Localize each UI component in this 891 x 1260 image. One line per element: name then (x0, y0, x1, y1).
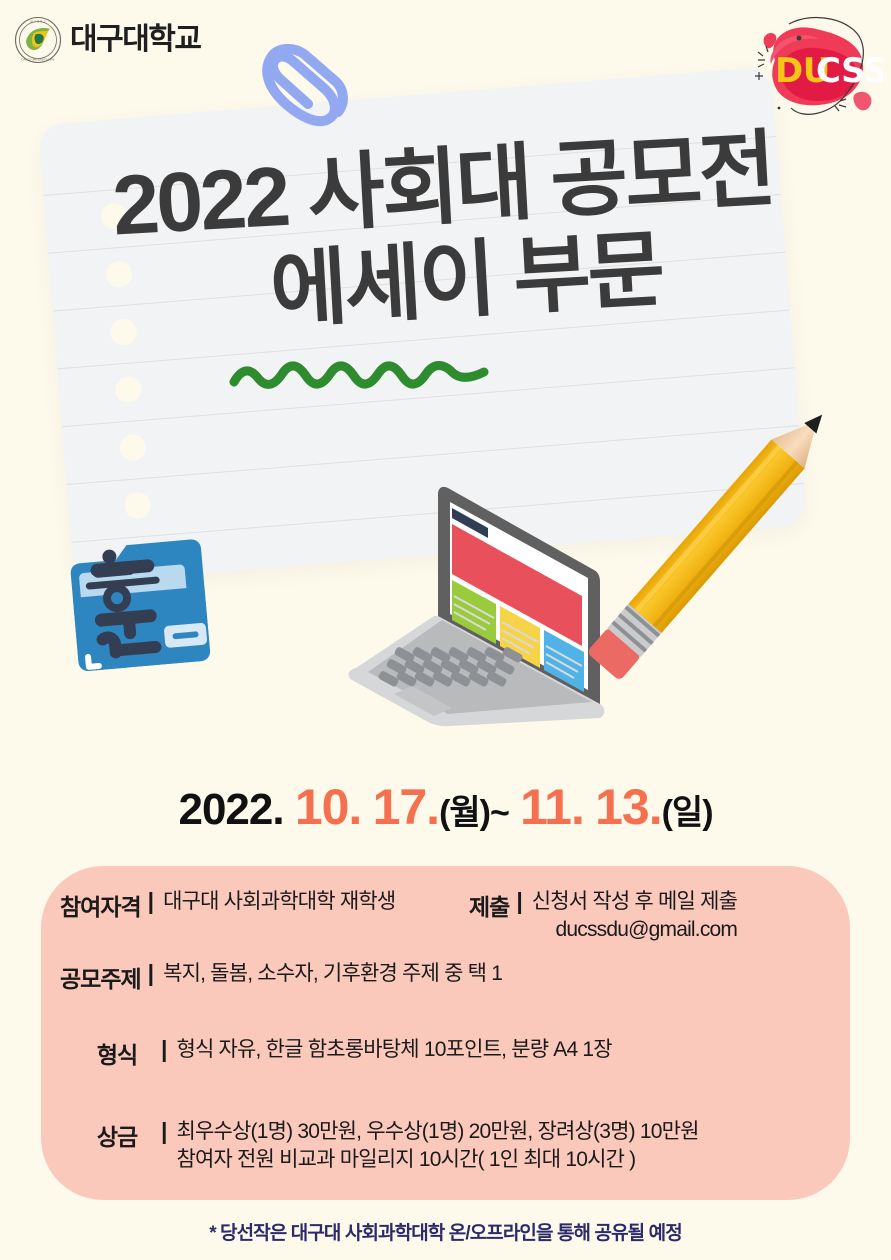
date-start-weekday: (월)~ (439, 794, 509, 832)
info-label-format: 형식 (80, 1036, 154, 1070)
info-separator: | (516, 888, 522, 915)
info-value-format: 형식 자유, 한글 함초롱바탕체 10포인트, 분량 A4 1장 (176, 1036, 611, 1064)
info-value-submission-email[interactable]: ducssdu@gmail.com (555, 916, 737, 944)
paperclip-icon (238, 22, 360, 154)
info-separator: | (161, 1036, 167, 1063)
university-logo: 대 구 대 학 교 DAEGU UNIVERSITY 1956 대구대학교 (14, 16, 201, 64)
pencil-illustration (548, 372, 868, 720)
info-label-prize: 상금 (80, 1118, 154, 1152)
footer-note: * 당선작은 대구대 사회과학대학 온/오프라인을 통해 공유될 예정 (0, 1218, 891, 1245)
date-end-day: 13. (595, 779, 662, 835)
info-row-format: 형식 | 형식 자유, 한글 함초롱바탕체 10포인트, 분량 A4 1장 (80, 1036, 612, 1070)
info-label-topic: 공모주제 (60, 960, 141, 994)
folder-stamp-icon (58, 532, 226, 684)
info-value-submission: 신청서 작성 후 메일 제출 (532, 888, 737, 916)
info-value-qualification: 대구대 사회과학대학 재학생 (163, 888, 395, 916)
date-start-day: 17. (373, 779, 440, 835)
info-panel-rows: 참여자격 | 대구대 사회과학대학 재학생 제출 | 신청서 작성 후 메일 제… (41, 866, 850, 1200)
info-row-prize: 상금 | 최우수상(1명) 30만원, 우수상(1명) 20만원, 장려상(3명… (80, 1118, 699, 1175)
title-underline-squiggle (228, 352, 490, 392)
info-row-submission: 제출 | 신청서 작성 후 메일 제출 ducssdu@gmail.com (469, 888, 737, 945)
date-end-weekday: (일) (662, 794, 713, 832)
info-label-submission: 제출 (469, 888, 509, 922)
university-seal-icon: 대 구 대 학 교 DAEGU UNIVERSITY 1956 (14, 16, 62, 64)
date-year: 2022. (178, 785, 283, 834)
ducss-css-text: CSS (816, 51, 883, 91)
svg-text:대 구 대 학 교: 대 구 대 학 교 (30, 20, 46, 24)
event-date: 2022. 10. 17.(월)~ 11. 13.(일) (0, 778, 891, 836)
date-start-month: 10. (295, 779, 362, 835)
university-name: 대구대학교 (70, 25, 201, 55)
info-row-qualification: 참여자격 | 대구대 사회과학대학 재학생 (60, 888, 395, 922)
info-separator: | (148, 960, 154, 987)
svg-text:DAEGU UNIVERSITY 1956: DAEGU UNIVERSITY 1956 (22, 58, 55, 62)
info-separator: | (148, 888, 154, 915)
info-value-prize: 최우수상(1명) 30만원, 우수상(1명) 20만원, 장려상(3명) 10만… (176, 1118, 698, 1146)
info-value-topic: 복지, 돌봄, 소수자, 기후환경 주제 중 택 1 (163, 960, 502, 988)
info-row-topic: 공모주제 | 복지, 돌봄, 소수자, 기후환경 주제 중 택 1 (60, 960, 502, 994)
info-value-prize-mileage: 참여자 전원 비교과 마일리지 10시간( 1인 최대 10시간 ) (176, 1146, 635, 1174)
info-separator: | (161, 1118, 167, 1145)
poster-root: 대 구 대 학 교 DAEGU UNIVERSITY 1956 대구대학교 DU… (0, 0, 891, 1260)
date-end-month: 11. (520, 779, 584, 835)
info-label-qualification: 참여자격 (60, 888, 141, 922)
